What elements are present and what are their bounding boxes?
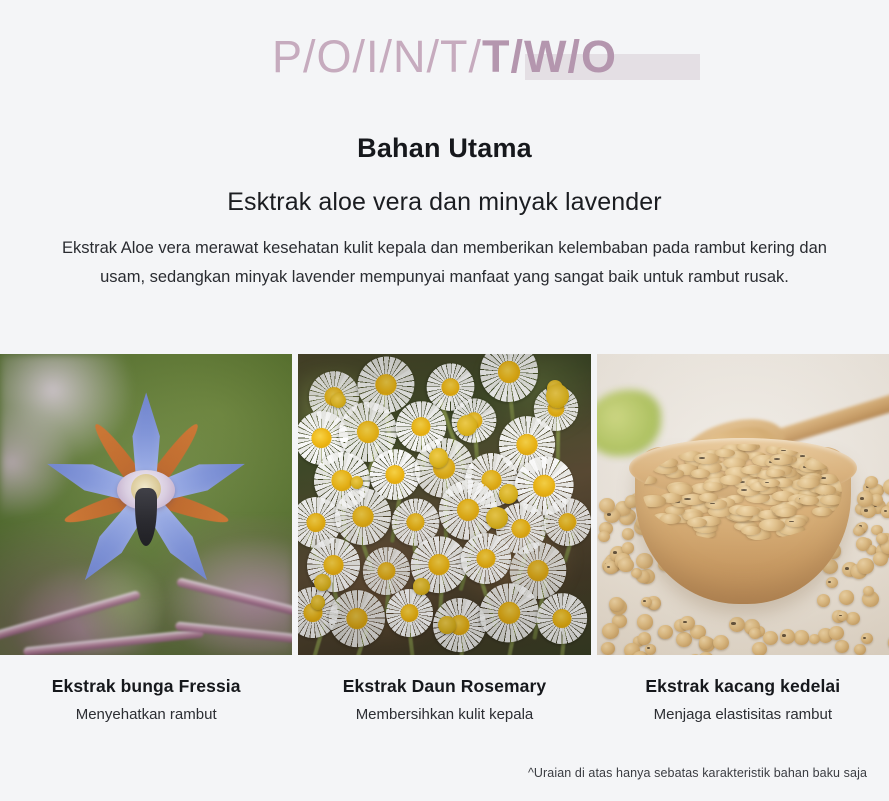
chamomile-bud [311, 595, 325, 610]
white-chamomile-flowers-photo [298, 354, 590, 655]
soybean [631, 568, 642, 578]
soybean [676, 632, 692, 647]
soybean [643, 476, 656, 485]
body-paragraph: Ekstrak Aloe vera merawat kesehatan kuli… [50, 234, 839, 292]
soybean [641, 597, 652, 607]
wordmark-light-text: P/O/I/N/T/ [272, 31, 482, 82]
soybean [883, 479, 889, 494]
soybean [699, 493, 718, 501]
soybean [861, 633, 874, 645]
soybean [804, 459, 828, 470]
soybean-heap [643, 444, 842, 540]
soybean [698, 652, 714, 655]
point-two-ingredients-page: P/O/I/N/T/T/W/O Bahan Utama Esktrak aloe… [0, 0, 889, 801]
soybean [759, 519, 785, 530]
soybean [817, 594, 830, 606]
soybean [637, 614, 654, 630]
soybean [881, 506, 889, 518]
soybean [658, 625, 673, 639]
caption-item: Ekstrak kacang kedelai Menjaga elastisit… [597, 673, 889, 728]
soybean [660, 514, 682, 524]
soybean [636, 553, 653, 569]
soybean [720, 475, 742, 485]
soybean [876, 533, 888, 544]
soybean [599, 498, 615, 513]
soybean [853, 526, 864, 536]
chamomile-bud [351, 476, 363, 488]
soybean [839, 590, 854, 604]
chamomile-bud [438, 616, 455, 634]
soybean [846, 612, 859, 625]
soybean [857, 558, 873, 574]
soybean [780, 629, 795, 643]
wordmark-header: P/O/I/N/T/T/W/O [0, 24, 889, 96]
soybean [622, 528, 634, 540]
soybean [829, 626, 844, 640]
soybean [749, 628, 761, 639]
soybean [687, 518, 707, 527]
ingredient-captions: Ekstrak bunga Fressia Menyehatkan rambut… [0, 673, 889, 728]
caption-title: Ekstrak kacang kedelai [597, 673, 889, 699]
soybean [809, 634, 820, 644]
wordmark: P/O/I/N/T/T/W/O [272, 24, 617, 90]
caption-subtitle: Menjaga elastisitas rambut [597, 702, 889, 728]
soybean [873, 552, 888, 566]
page-title: Bahan Utama [0, 133, 889, 164]
soybean [815, 485, 837, 495]
soybean [770, 454, 794, 465]
soybean [785, 517, 806, 526]
soybean [703, 482, 723, 491]
soybean [680, 616, 695, 630]
soybean [602, 623, 619, 639]
chamomile-bud [413, 578, 429, 595]
chamomile-bud [499, 484, 518, 504]
borage-blossom [41, 387, 251, 597]
caption-item: Ekstrak Daun Rosemary Membersihkan kulit… [298, 673, 590, 728]
soybean [799, 496, 819, 505]
chamomile-bud [457, 415, 477, 436]
page-subtitle: Esktrak aloe vera dan minyak lavender [0, 188, 889, 217]
black-stamen-cone [135, 488, 157, 546]
soybean [766, 469, 785, 477]
caption-title: Ekstrak bunga Fressia [0, 673, 292, 699]
caption-title: Ekstrak Daun Rosemary [298, 673, 590, 699]
soybean [856, 537, 871, 551]
soybean [835, 640, 849, 654]
soybean [729, 617, 745, 632]
blue-borage-flower-photo [0, 354, 292, 655]
ingredient-image-gallery [0, 354, 889, 655]
soybean [699, 636, 712, 649]
caption-subtitle: Menyehatkan rambut [0, 702, 292, 728]
soybean [645, 644, 657, 655]
soybean [812, 507, 832, 516]
soybean [741, 526, 761, 535]
soybean [598, 531, 610, 542]
soybean [601, 642, 615, 656]
soybean [752, 642, 766, 655]
soybean [622, 542, 634, 553]
chamomile-bud [314, 574, 331, 591]
caption-subtitle: Membersihkan kulit kepala [298, 702, 590, 728]
caption-item: Ekstrak bunga Fressia Menyehatkan rambut [0, 673, 292, 728]
soybean [609, 597, 624, 611]
soybean [658, 458, 678, 467]
soybean [643, 495, 665, 506]
footnote-text: ^Uraian di atas hanya sebatas karakteris… [528, 766, 867, 780]
soybean [826, 577, 838, 588]
soybean [794, 630, 809, 644]
wordmark-bold-text: T/W/O [482, 31, 617, 82]
soybean [713, 635, 729, 650]
soybean [763, 631, 778, 645]
soybean [638, 632, 652, 645]
soybeans-wooden-bowl-photo [597, 354, 889, 655]
soybean [820, 495, 842, 505]
soybean [854, 644, 866, 655]
soybean [775, 508, 795, 517]
